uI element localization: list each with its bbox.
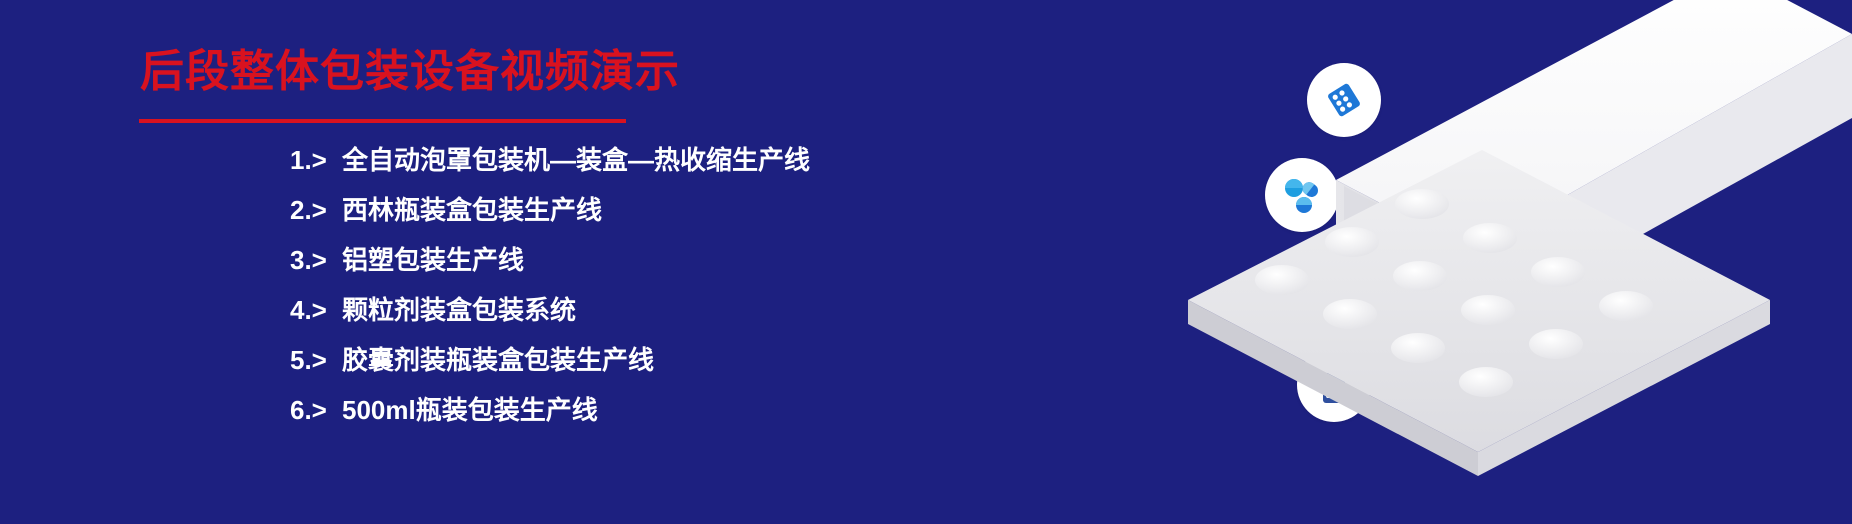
page-title: 后段整体包装设备视频演示 — [140, 44, 680, 99]
title-underline — [139, 119, 626, 123]
feature-list: 1.> 全自动泡罩包装机—装盒—热收缩生产线 2.> 西林瓶装盒包装生产线 3.… — [290, 140, 810, 440]
list-item[interactable]: 1.> 全自动泡罩包装机—装盒—热收缩生产线 — [290, 140, 810, 190]
text-block: 后段整体包装设备视频演示 1.> 全自动泡罩包装机—装盒—热收缩生产线 2.> … — [0, 0, 1000, 524]
list-item[interactable]: 3.> 铝塑包装生产线 — [290, 240, 810, 290]
list-item-index: 3.> — [290, 245, 342, 276]
list-item-index: 6.> — [290, 395, 342, 426]
list-item-label: 500ml瓶装包装生产线 — [342, 390, 598, 427]
list-item-label: 全自动泡罩包装机—装盒—热收缩生产线 — [342, 140, 810, 177]
list-item[interactable]: 2.> 西林瓶装盒包装生产线 — [290, 190, 810, 240]
promo-banner: 后段整体包装设备视频演示 1.> 全自动泡罩包装机—装盒—热收缩生产线 2.> … — [0, 0, 1852, 524]
list-item[interactable]: 5.> 胶囊剂装瓶装盒包装生产线 — [290, 340, 810, 390]
list-item-label: 胶囊剂装瓶装盒包装生产线 — [342, 340, 654, 377]
list-item-index: 4.> — [290, 295, 342, 326]
list-item-index: 1.> — [290, 145, 342, 176]
list-item-label: 西林瓶装盒包装生产线 — [342, 190, 602, 227]
list-item-label: 颗粒剂装盒包装系统 — [342, 290, 576, 327]
list-item[interactable]: 4.> 颗粒剂装盒包装系统 — [290, 290, 810, 340]
blister-pack-carton-illustration — [1130, 0, 1852, 524]
list-item[interactable]: 6.> 500ml瓶装包装生产线 — [290, 390, 810, 440]
list-item-index: 2.> — [290, 195, 342, 226]
list-item-label: 铝塑包装生产线 — [342, 240, 524, 277]
list-item-index: 5.> — [290, 345, 342, 376]
